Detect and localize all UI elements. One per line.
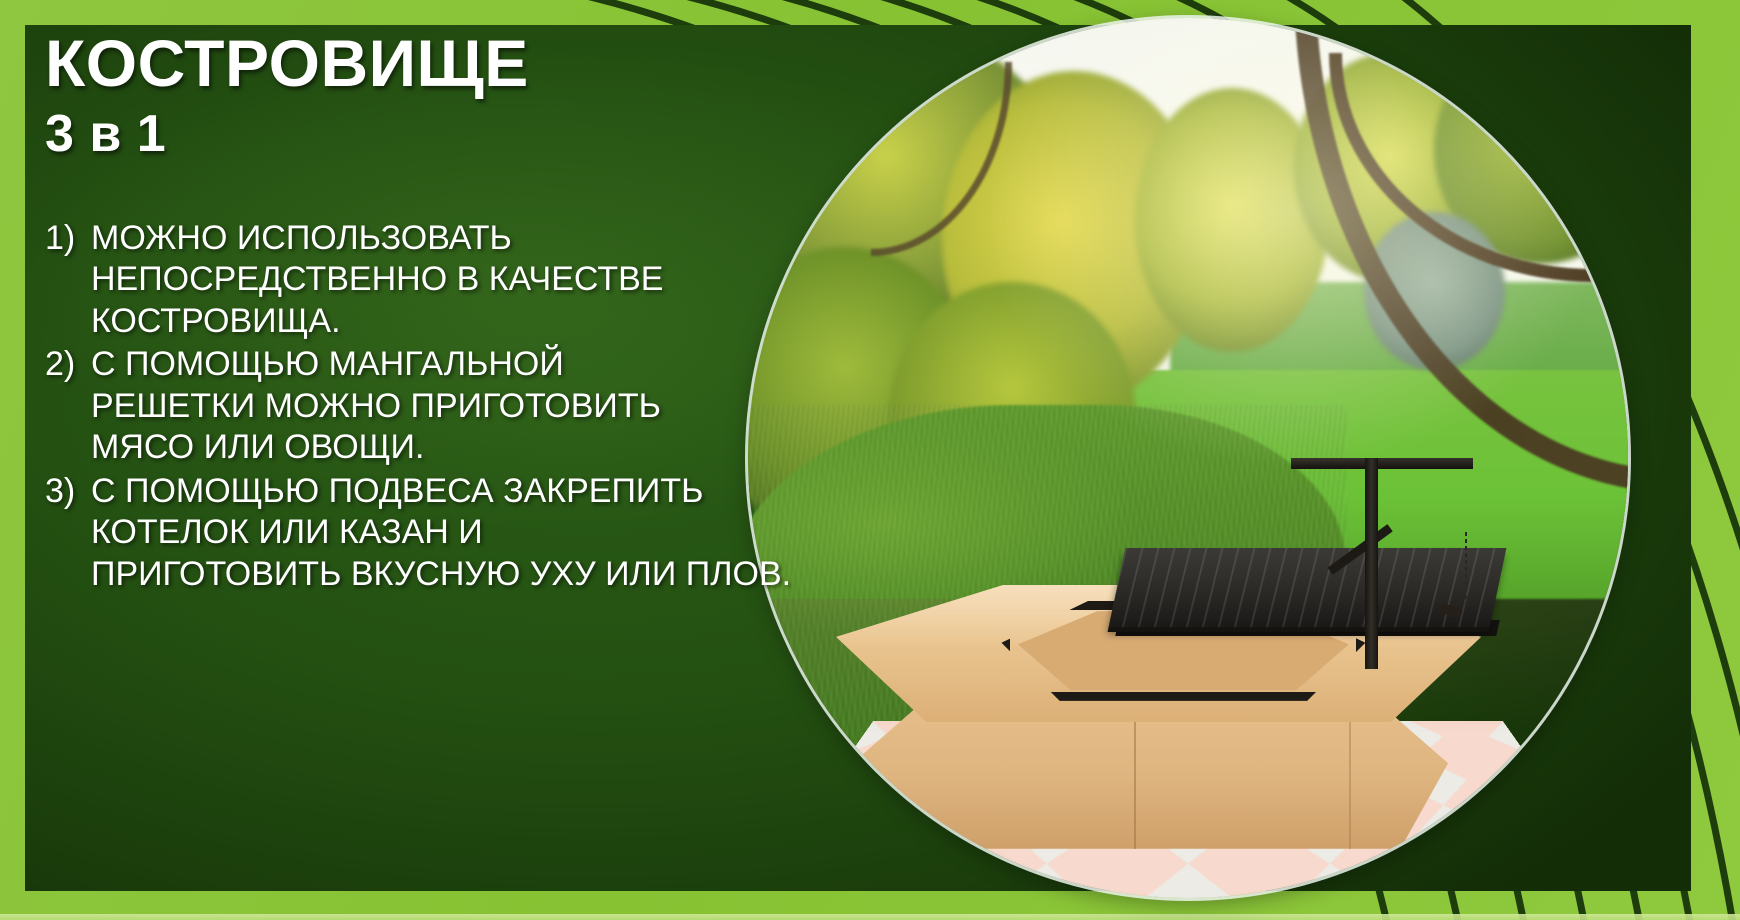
list-item-text: С ПОМОЩЬЮ МАНГАЛЬНОЙ РЕШЕТКИ МОЖНО ПРИГО… <box>91 344 661 468</box>
list-item: 3) С ПОМОЩЬЮ ПОДВЕСА ЗАКРЕПИТЬ КОТЕЛОК И… <box>45 471 945 595</box>
list-item-text: С ПОМОЩЬЮ ПОДВЕСА ЗАКРЕПИТЬ КОТЕЛОК ИЛИ … <box>91 471 791 595</box>
firepit <box>836 352 1628 880</box>
list-item-number: 1) <box>45 218 91 342</box>
poster-root: КОСТРОВИЩЕ 3 в 1 1) МОЖНО ИСПОЛЬЗОВАТЬ Н… <box>0 0 1740 920</box>
page-subtitle: 3 в 1 <box>45 107 945 162</box>
firepit-seam <box>1349 711 1351 848</box>
list-item-text: МОЖНО ИСПОЛЬЗОВАТЬ НЕПОСРЕДСТВЕННО В КАЧ… <box>91 218 663 342</box>
page-title: КОСТРОВИЩЕ <box>45 30 945 97</box>
list-item: 2) С ПОМОЩЬЮ МАНГАЛЬНОЙ РЕШЕТКИ МОЖНО ПР… <box>45 344 945 468</box>
list-item-number: 2) <box>45 344 91 468</box>
list-item-number: 3) <box>45 471 91 595</box>
hanger-arm <box>1291 458 1473 469</box>
list-item: 1) МОЖНО ИСПОЛЬЗОВАТЬ НЕПОСРЕДСТВЕННО В … <box>45 218 945 342</box>
frame-bottom-edge <box>0 914 1740 920</box>
hanger-post <box>1365 458 1378 669</box>
hanger-chain <box>1465 532 1467 606</box>
text-content: КОСТРОВИЩЕ 3 в 1 1) МОЖНО ИСПОЛЬЗОВАТЬ Н… <box>45 30 945 597</box>
feature-list: 1) МОЖНО ИСПОЛЬЗОВАТЬ НЕПОСРЕДСТВЕННО В … <box>45 218 945 595</box>
